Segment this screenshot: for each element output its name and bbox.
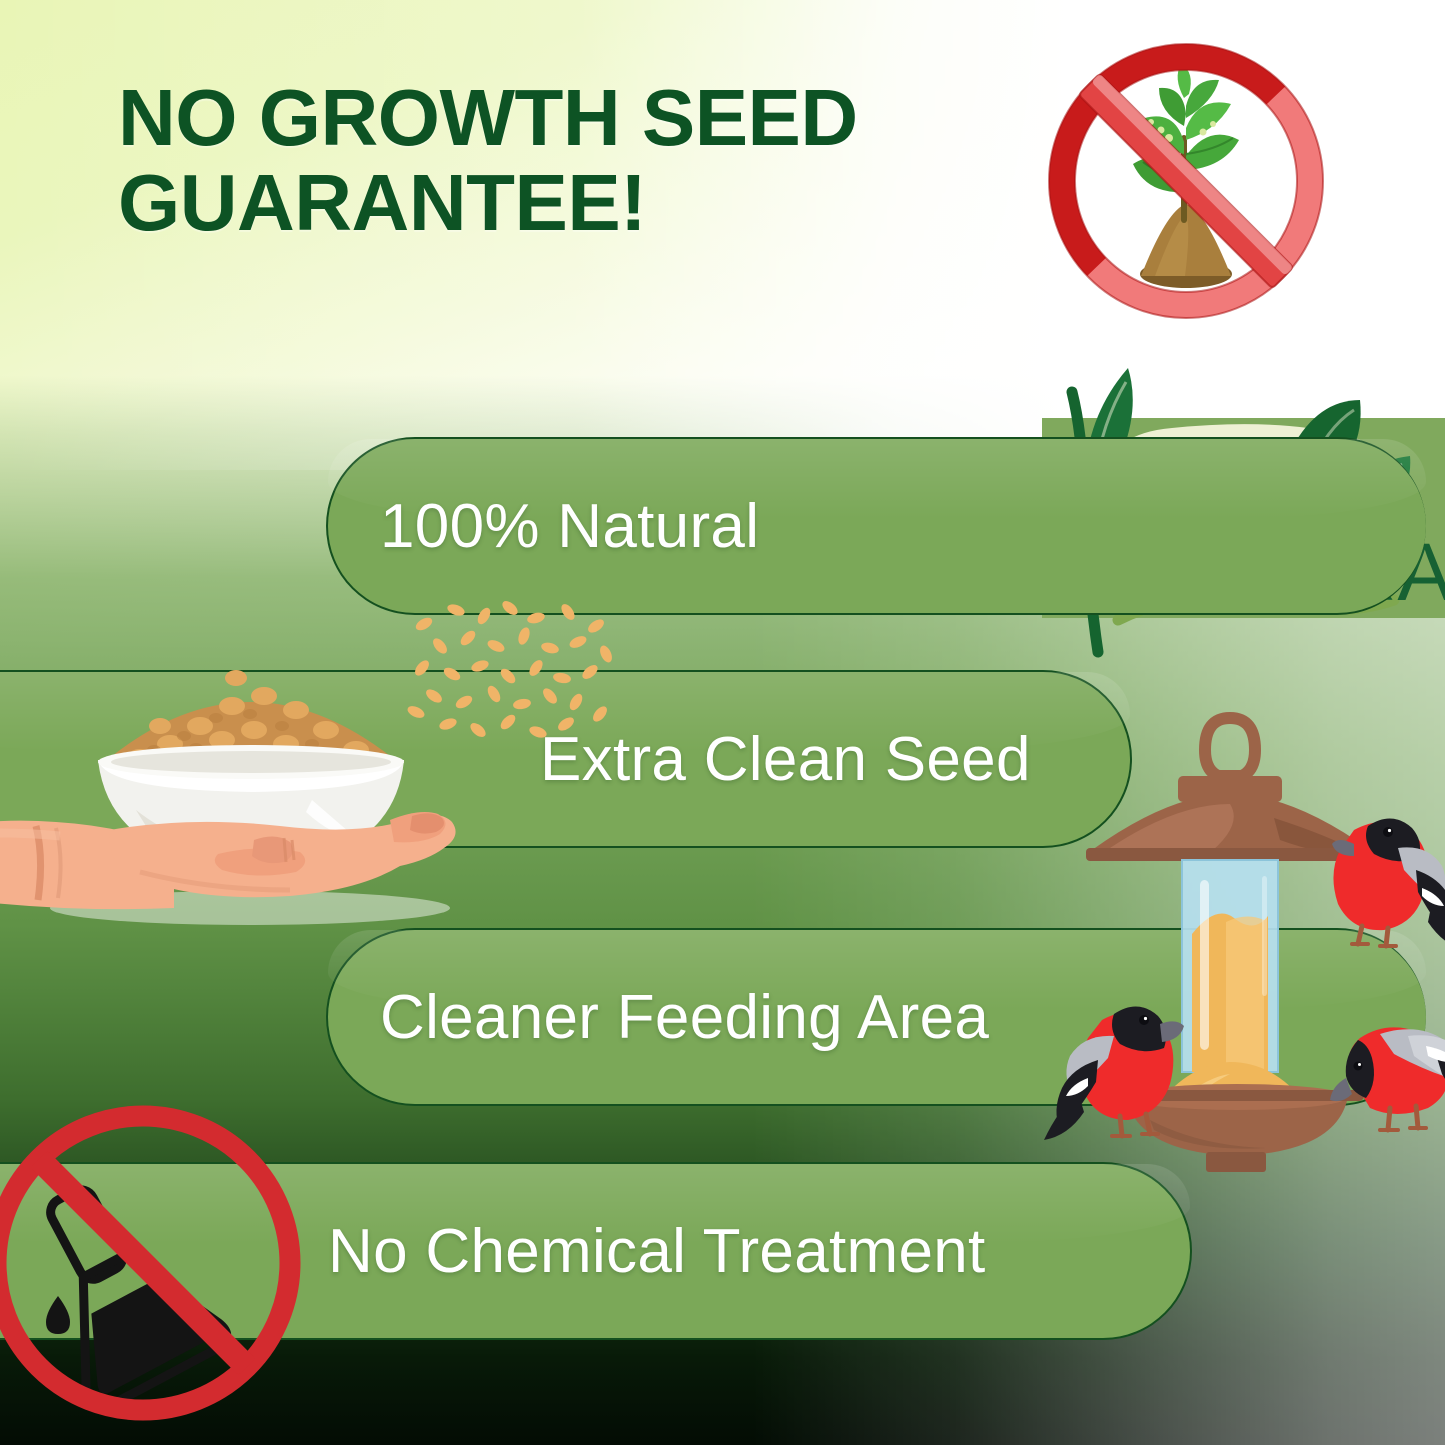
- no-chemical-icon: [0, 1098, 308, 1428]
- feature-pill-natural[interactable]: 100% Natural: [326, 437, 1426, 615]
- feature-label: 100% Natural: [380, 491, 759, 562]
- infographic-canvas: NO GROWTH SEED GUARANTEE!: [0, 0, 1445, 1445]
- bird-feeder-illustration: [1030, 690, 1445, 1172]
- page-title: NO GROWTH SEED GUARANTEE!: [118, 76, 978, 246]
- no-plant-growth-icon: [1047, 42, 1325, 320]
- feature-label: Cleaner Feeding Area: [380, 982, 989, 1053]
- hand-holding-seed-bowl-illustration: [0, 640, 560, 930]
- feature-label: No Chemical Treatment: [328, 1216, 986, 1287]
